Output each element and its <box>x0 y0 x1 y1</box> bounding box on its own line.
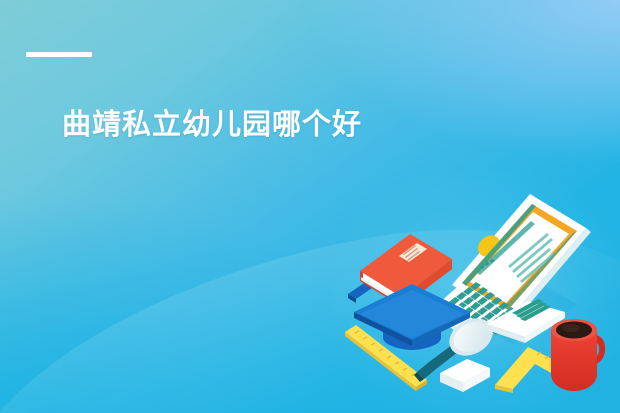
eraser <box>440 359 490 392</box>
coffee-mug <box>551 319 605 391</box>
study-desk-illustration <box>0 0 620 413</box>
banner: 曲靖私立幼儿园哪个好 <box>0 0 620 413</box>
